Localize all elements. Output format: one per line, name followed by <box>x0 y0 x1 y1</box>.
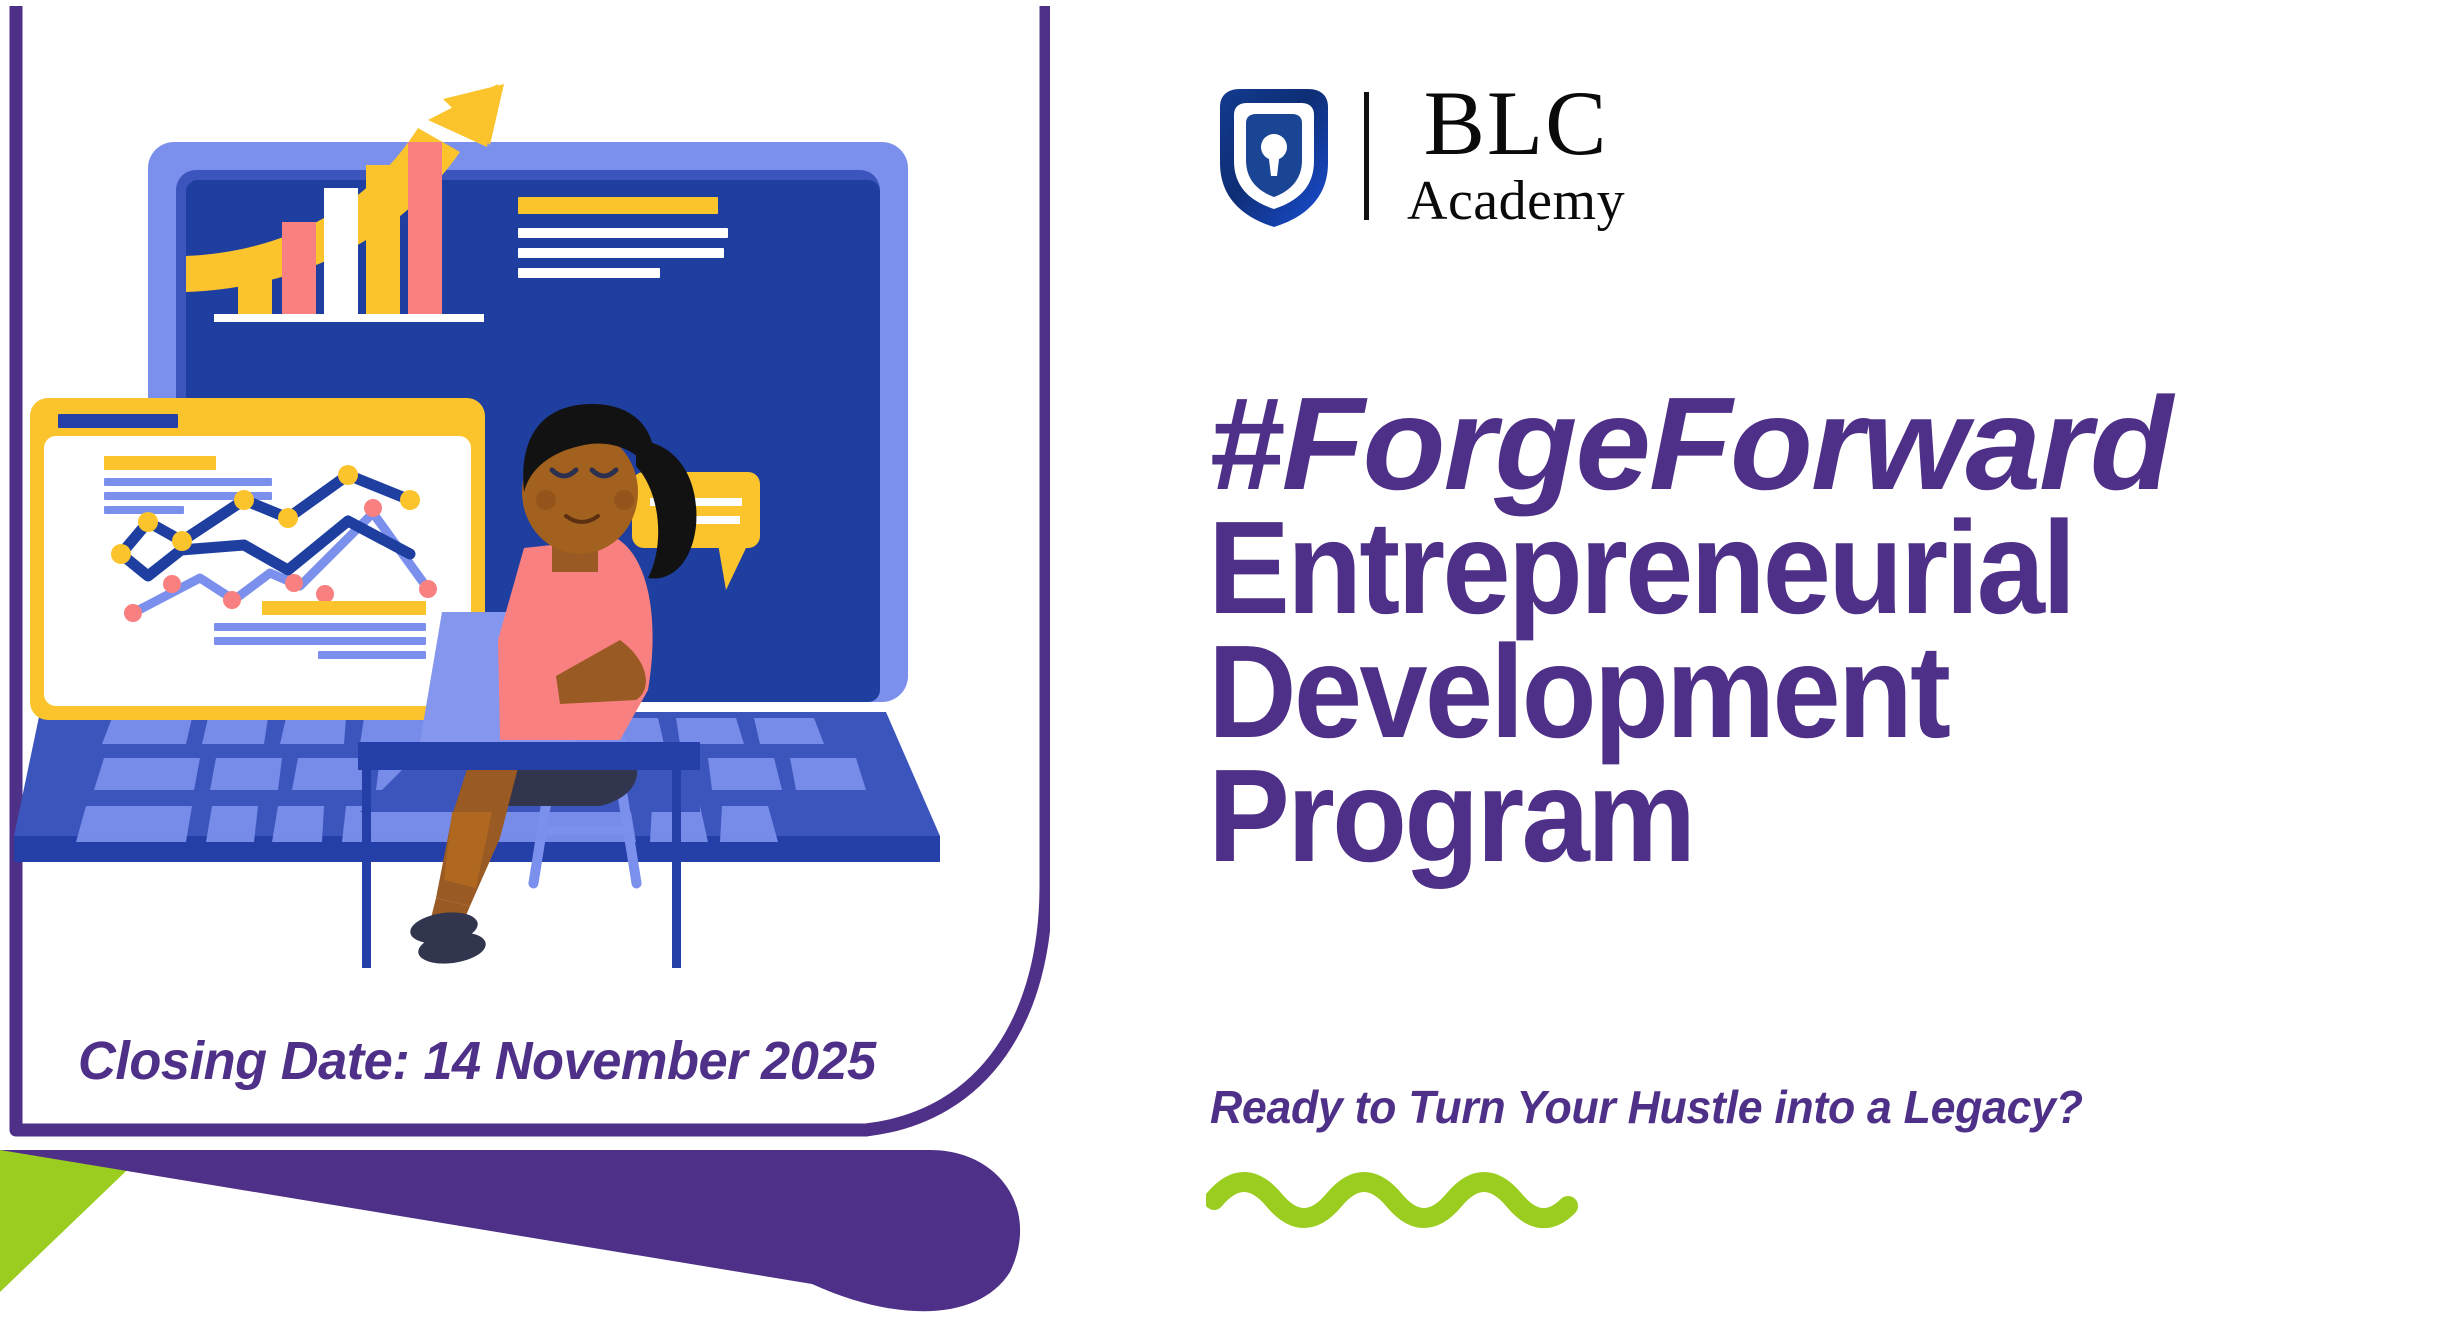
brand-wordmark: BLC Academy <box>1407 78 1625 234</box>
left-panel: Closing Date: 14 November 2025 <box>0 0 1060 1332</box>
green-wavy-underline-icon <box>1206 1170 1606 1230</box>
tagline-text: Ready to Turn Your Hustle into a Legacy? <box>1210 1080 2083 1134</box>
brand-lockup: BLC Academy <box>1210 78 1625 234</box>
closing-date-text: Closing Date: 14 November 2025 <box>78 1030 876 1092</box>
brand-sub: Academy <box>1407 168 1625 234</box>
headline-block: #ForgeForward Entrepreneurial Developmen… <box>1208 382 2448 878</box>
brand-divider <box>1364 92 1369 220</box>
headline-line-2: Development <box>1208 630 2361 754</box>
shield-lock-icon <box>1210 81 1338 231</box>
brand-name: BLC <box>1424 78 1609 168</box>
laptop-analytics-illustration <box>0 0 1060 1130</box>
bottom-decorative-shapes <box>0 1102 1120 1332</box>
headline-hashtag: #ForgeForward <box>1208 382 2448 506</box>
headline-line-3: Program <box>1208 754 2361 878</box>
right-panel: BLC Academy #ForgeForward Entrepreneuria… <box>1180 0 2448 1332</box>
headline-line-1: Entrepreneurial <box>1208 506 2361 630</box>
